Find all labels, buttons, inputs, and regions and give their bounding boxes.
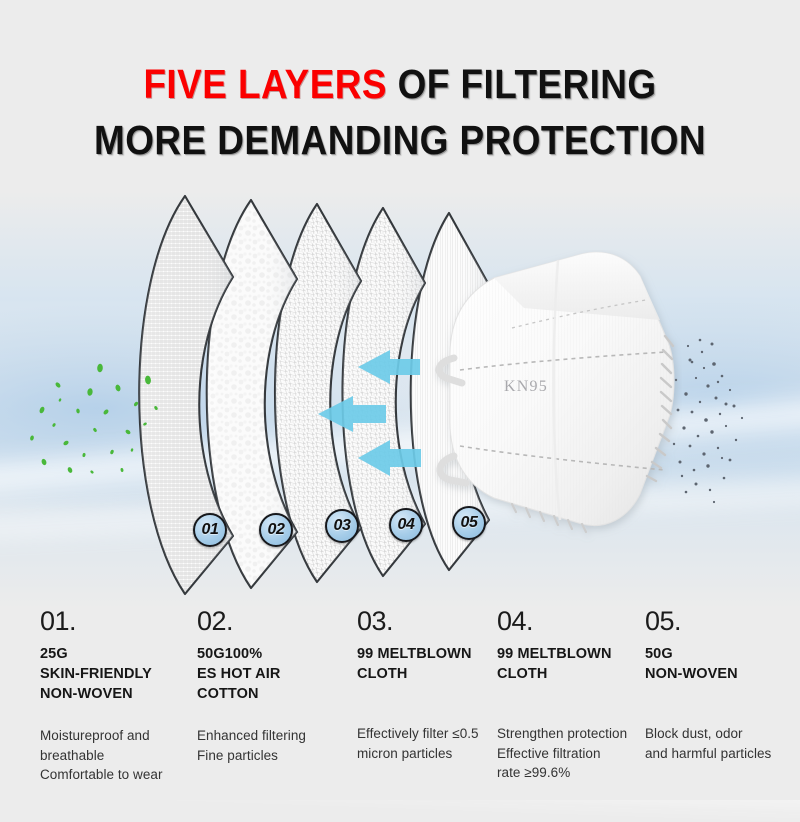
legend-column-03: 03. 99 MELTBLOWN CLOTH Effectively filte… (357, 608, 499, 763)
infographic-stage: FIVE LAYERS OF FILTERING MORE DEMANDING … (0, 0, 800, 800)
legend-heading-line: 50G100% (197, 644, 347, 664)
headline-line-1: FIVE LAYERS OF FILTERING (40, 60, 760, 108)
legend-column-05: 05. 50G NON-WOVEN Block dust, odor and h… (645, 608, 795, 763)
legend-desc-line: Effectively filter ≤0.5 (357, 724, 499, 744)
legend-desc-line: Fine particles (197, 746, 347, 766)
layer-badge-05[interactable]: 05 (452, 506, 486, 540)
legend-desc-02: Enhanced filtering Fine particles (197, 726, 347, 765)
legend-section: 01. 25G SKIN-FRIENDLY NON-WOVEN Moisture… (0, 608, 800, 800)
layer-badge-02-label: 02 (268, 521, 285, 539)
legend-heading-02: 50G100% ES HOT AIR COTTON (197, 644, 347, 704)
legend-desc-04: Strengthen protection Effective filtrati… (497, 724, 643, 783)
legend-desc-03: Effectively filter ≤0.5 micron particles (357, 724, 499, 763)
legend-column-01: 01. 25G SKIN-FRIENDLY NON-WOVEN Moisture… (40, 608, 190, 785)
legend-number-04: 04. (497, 608, 643, 635)
legend-heading-04: 99 MELTBLOWN CLOTH (497, 644, 643, 684)
legend-desc-line: Block dust, odor (645, 724, 795, 744)
legend-heading-line: 99 MELTBLOWN (497, 644, 643, 664)
legend-heading-line: 99 MELTBLOWN (357, 644, 499, 664)
legend-desc-line: Strengthen protection (497, 724, 643, 744)
legend-desc-line: micron particles (357, 744, 499, 764)
legend-desc-05: Block dust, odor and harmful particles (645, 724, 795, 763)
legend-desc-line: Moistureproof and (40, 726, 190, 746)
legend-heading-line: CLOTH (497, 664, 643, 684)
legend-heading-line: 25G (40, 644, 190, 664)
legend-heading-05: 50G NON-WOVEN (645, 644, 795, 684)
legend-column-02: 02. 50G100% ES HOT AIR COTTON Enhanced f… (197, 608, 347, 765)
layer-badge-04[interactable]: 04 (389, 508, 423, 542)
legend-heading-line: SKIN-FRIENDLY (40, 664, 190, 684)
legend-desc-line: and harmful particles (645, 744, 795, 764)
layer-badge-03[interactable]: 03 (325, 509, 359, 543)
headline-block: FIVE LAYERS OF FILTERING MORE DEMANDING … (0, 60, 800, 165)
layer-badge-02[interactable]: 02 (259, 513, 293, 547)
legend-number-05: 05. (645, 608, 795, 635)
legend-number-03: 03. (357, 608, 499, 635)
legend-heading-line: CLOTH (357, 664, 499, 684)
legend-column-04: 04. 99 MELTBLOWN CLOTH Strengthen protec… (497, 608, 643, 783)
layer-badge-05-label: 05 (461, 514, 478, 532)
legend-heading-line: NON-WOVEN (40, 684, 190, 704)
legend-number-02: 02. (197, 608, 347, 635)
legend-heading-01: 25G SKIN-FRIENDLY NON-WOVEN (40, 644, 190, 704)
layer-badge-01[interactable]: 01 (193, 513, 227, 547)
legend-number-01: 01. (40, 608, 190, 635)
legend-desc-line: Comfortable to wear (40, 765, 190, 785)
layer-badge-03-label: 03 (334, 517, 351, 535)
legend-desc-line: breathable (40, 746, 190, 766)
layer-badge-01-label: 01 (202, 521, 219, 539)
headline-line-1-rest: OF FILTERING (387, 61, 657, 107)
legend-desc-line: Enhanced filtering (197, 726, 347, 746)
legend-desc-line: Effective filtration (497, 744, 643, 764)
legend-heading-line: 50G (645, 644, 795, 664)
layer-badge-04-label: 04 (398, 516, 415, 534)
legend-heading-line: NON-WOVEN (645, 664, 795, 684)
legend-heading-line: COTTON (197, 684, 347, 704)
legend-desc-line: rate ≥99.6% (497, 763, 643, 783)
headline-highlight: FIVE LAYERS (143, 61, 387, 107)
legend-heading-line: ES HOT AIR (197, 664, 347, 684)
headline-line-2: MORE DEMANDING PROTECTION (40, 116, 760, 164)
legend-desc-01: Moistureproof and breathable Comfortable… (40, 726, 190, 785)
legend-heading-03: 99 MELTBLOWN CLOTH (357, 644, 499, 684)
